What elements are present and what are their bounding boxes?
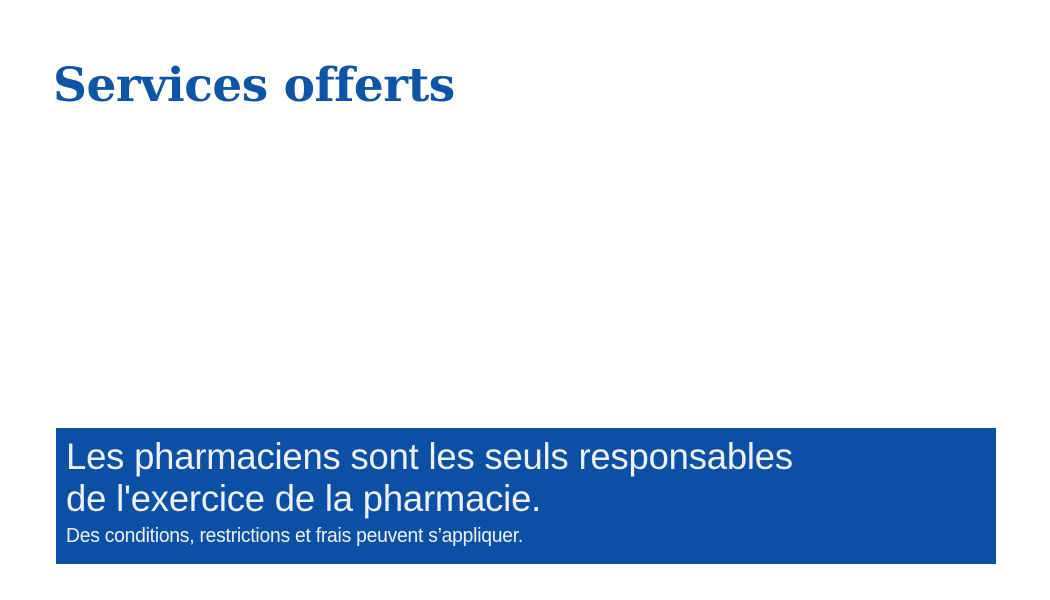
- banner-headline-line-2: de l'exercice de la pharmacie.: [66, 478, 970, 520]
- slide: Services offerts Les pharmaciens sont le…: [0, 0, 1050, 600]
- banner-subtitle: Des conditions, restrictions et frais pe…: [66, 524, 952, 548]
- highlight-banner: Les pharmaciens sont les seuls responsab…: [56, 428, 996, 564]
- slide-content-area: [56, 140, 996, 415]
- banner-headline-line-1: Les pharmaciens sont les seuls responsab…: [66, 436, 970, 478]
- page-title: Services offerts: [53, 62, 455, 109]
